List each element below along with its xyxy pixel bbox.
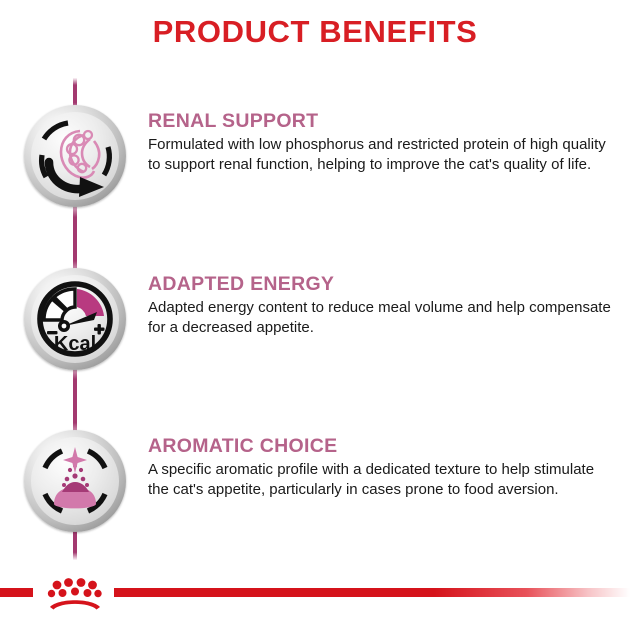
benefit-item-adapted-energy: Kcal ADAPTED ENERGY Adapted energy conte… [0,268,630,398]
benefit-text-block: ADAPTED ENERGY Adapted energy content to… [148,274,618,338]
kidney-icon [24,105,126,207]
benefit-body: Formulated with low phosphorus and restr… [148,135,618,175]
footer-bar-left [0,588,33,597]
aroma-bowl-icon [24,430,126,532]
footer [0,572,630,630]
benefit-text-block: RENAL SUPPORT Formulated with low phosph… [148,111,618,175]
benefit-text-block: AROMATIC CHOICE A specific aromatic prof… [148,436,618,500]
kidney-icon-art [24,105,126,207]
page-title: PRODUCT BENEFITS [0,14,630,50]
benefit-item-renal-support: RENAL SUPPORT Formulated with low phosph… [0,105,630,235]
royal-canin-crown-logo [40,574,110,614]
benefit-heading: RENAL SUPPORT [148,111,618,131]
benefit-body: Adapted energy content to reduce meal vo… [148,298,618,338]
benefit-item-aromatic-choice: AROMATIC CHOICE A specific aromatic prof… [0,430,630,560]
footer-bar-right [114,588,630,597]
kcal-gauge-icon: Kcal [24,268,126,370]
benefit-body: A specific aromatic profile with a dedic… [148,460,618,500]
benefit-heading: ADAPTED ENERGY [148,274,618,294]
kcal-label: Kcal [54,333,96,355]
sparkle-icon [63,447,87,473]
kcal-gauge-icon-art: Kcal [24,268,126,370]
aroma-bowl-icon-art [24,430,126,532]
benefit-heading: AROMATIC CHOICE [148,436,618,456]
